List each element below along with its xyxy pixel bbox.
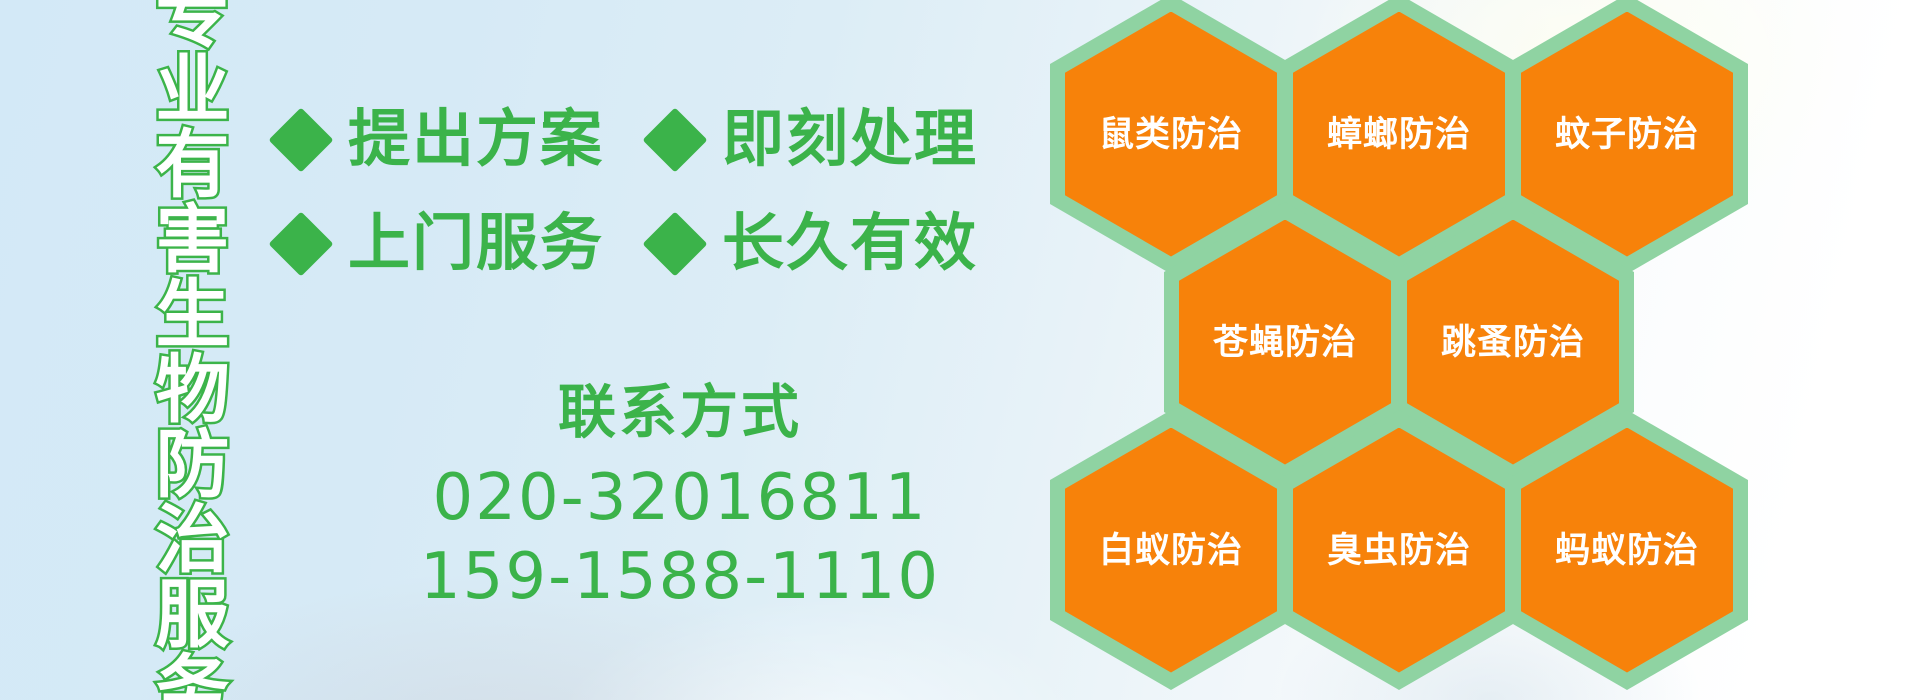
contact-phone-landline[interactable]: 020-32016811 <box>380 459 980 538</box>
diamond-icon <box>642 107 707 172</box>
service-hex-inner: 蚊子防治 <box>1521 12 1733 257</box>
contact-heading: 联系方式 <box>380 382 980 445</box>
feature-list: 提出方案 即刻处理 上门服务 长久有效 <box>278 88 1068 296</box>
service-hex-label: 跳蚤防治 <box>1441 325 1585 360</box>
service-hex-label: 臭虫防治 <box>1327 533 1471 568</box>
diamond-icon <box>642 211 707 276</box>
service-hex-label: 蟑螂防治 <box>1327 117 1471 152</box>
feature-row: 上门服务 长久有效 <box>278 192 1068 296</box>
service-hex-inner: 鼠类防治 <box>1065 12 1277 257</box>
feature-item: 长久有效 <box>652 213 978 275</box>
feature-label: 上门服务 <box>348 213 604 275</box>
feature-item: 上门服务 <box>278 213 604 275</box>
service-honeycomb: 鼠类防治 蟑螂防治 蚊子防治 苍蝇防治 跳蚤防治 白蚁防治 <box>1050 0 1840 700</box>
vertical-headline: 专业有害生物防治服务 <box>128 8 224 692</box>
feature-row: 提出方案 即刻处理 <box>278 88 1068 192</box>
contact-phone-mobile[interactable]: 159-1588-1110 <box>380 538 980 617</box>
feature-label: 即刻处理 <box>722 109 978 171</box>
service-hex-inner: 蚂蚁防治 <box>1521 428 1733 673</box>
service-hex-inner: 苍蝇防治 <box>1179 220 1391 465</box>
service-hex-inner: 白蚁防治 <box>1065 428 1277 673</box>
contact-block: 联系方式 020-32016811 159-1588-1110 <box>380 382 980 617</box>
service-hex-label: 苍蝇防治 <box>1213 325 1357 360</box>
service-hex-label: 蚊子防治 <box>1555 117 1699 152</box>
feature-label: 长久有效 <box>722 213 978 275</box>
service-hex-label: 白蚁防治 <box>1099 533 1243 568</box>
feature-item: 提出方案 <box>278 109 604 171</box>
service-hex-inner: 臭虫防治 <box>1293 428 1505 673</box>
service-hex-label: 鼠类防治 <box>1099 117 1243 152</box>
service-hex-inner: 跳蚤防治 <box>1407 220 1619 465</box>
service-hex-label: 蚂蚁防治 <box>1555 533 1699 568</box>
diamond-icon <box>268 107 333 172</box>
diamond-icon <box>268 211 333 276</box>
service-hex-inner: 蟑螂防治 <box>1293 12 1505 257</box>
feature-item: 即刻处理 <box>652 109 978 171</box>
feature-label: 提出方案 <box>348 109 604 171</box>
promo-banner: 专业有害生物防治服务 提出方案 即刻处理 上门服务 长久有效 联系方式 <box>0 0 1920 700</box>
